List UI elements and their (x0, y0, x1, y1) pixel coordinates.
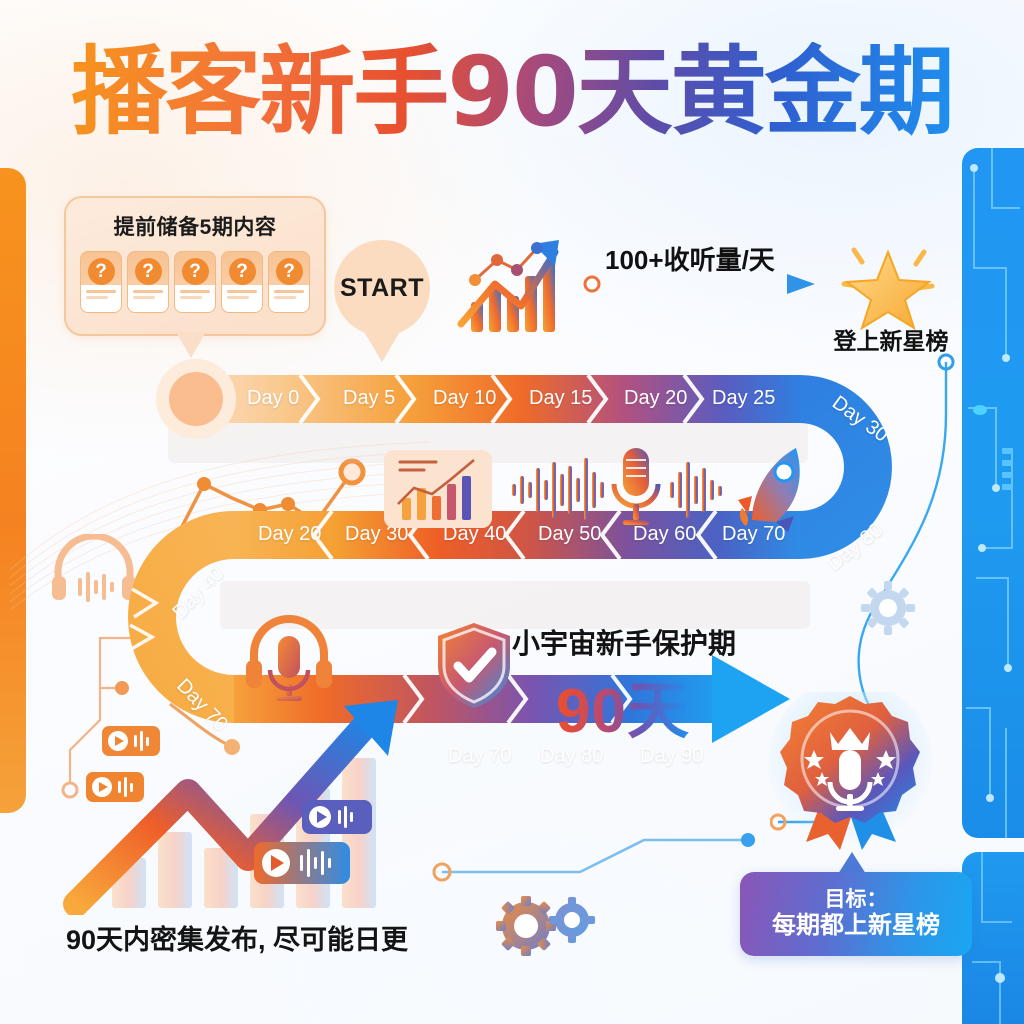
rocket-icon (738, 448, 800, 532)
listens-arrow (583, 272, 823, 296)
stockpile-card: ? (268, 251, 310, 313)
content-stockpile-callout: 提前储备5期内容 ? ? ? ? ? (64, 196, 326, 336)
stockpile-card: ? (221, 251, 263, 313)
protection-period-days: 90天 (556, 660, 690, 750)
start-pin: START (334, 240, 430, 336)
content-stockpile-label: 提前储备5期内容 (66, 211, 324, 241)
page-title: 播客新手90天黄金期 (71, 42, 953, 143)
mid-icon-row (380, 440, 810, 535)
timeline-curve-right-top (800, 375, 892, 559)
star-icon (836, 236, 940, 332)
card-lines (133, 290, 163, 302)
goal-callout-pointer (838, 852, 866, 874)
protection-period-title: 小宇宙新手保护期 (512, 622, 736, 662)
episode-card (302, 800, 372, 834)
card-lines (274, 290, 304, 302)
timeline-curve-left (128, 511, 234, 723)
question-mark-icon: ? (276, 258, 303, 285)
bottom-growth-chart (58, 700, 478, 915)
start-pin-label: START (340, 274, 424, 303)
headset-microphone-icon (240, 612, 338, 706)
infographic-canvas: 播客新手90天黄金期 提前储备5期内容 ? ? ? ? ? (0, 0, 1024, 1024)
bottom-caption: 90天内密集发布, 尽可能日更 (66, 918, 408, 957)
growth-chart-icon (455, 232, 573, 340)
goal-callout-line1: 目标： (825, 888, 888, 912)
microphone-icon (614, 448, 658, 525)
star-ranking-label: 登上新星榜 (806, 322, 976, 356)
card-lines (180, 290, 210, 302)
stockpile-card: ? (80, 251, 122, 313)
episode-card (254, 842, 350, 884)
content-stockpile-cards: ? ? ? ? ? (66, 251, 324, 313)
stockpile-card: ? (127, 251, 169, 313)
episode-card (102, 726, 160, 756)
page-title-wrapper: 播客新手90天黄金期 (0, 42, 1024, 143)
card-lines (86, 290, 116, 302)
question-mark-icon: ? (135, 258, 162, 285)
goal-callout: 目标： 每期都上新星榜 (740, 872, 972, 956)
question-mark-icon: ? (182, 258, 209, 285)
award-badge-microphone-icon (766, 692, 934, 852)
question-mark-icon: ? (88, 258, 115, 285)
stockpile-card: ? (174, 251, 216, 313)
episode-card (86, 772, 144, 802)
shield-check-icon (434, 620, 514, 710)
question-mark-icon: ? (229, 258, 256, 285)
analytics-card-icon (384, 450, 492, 528)
bottom-connector-line (430, 830, 760, 950)
card-lines (227, 290, 257, 302)
goal-callout-line2: 每期都上新星榜 (772, 912, 940, 941)
gear-icon (860, 580, 916, 636)
